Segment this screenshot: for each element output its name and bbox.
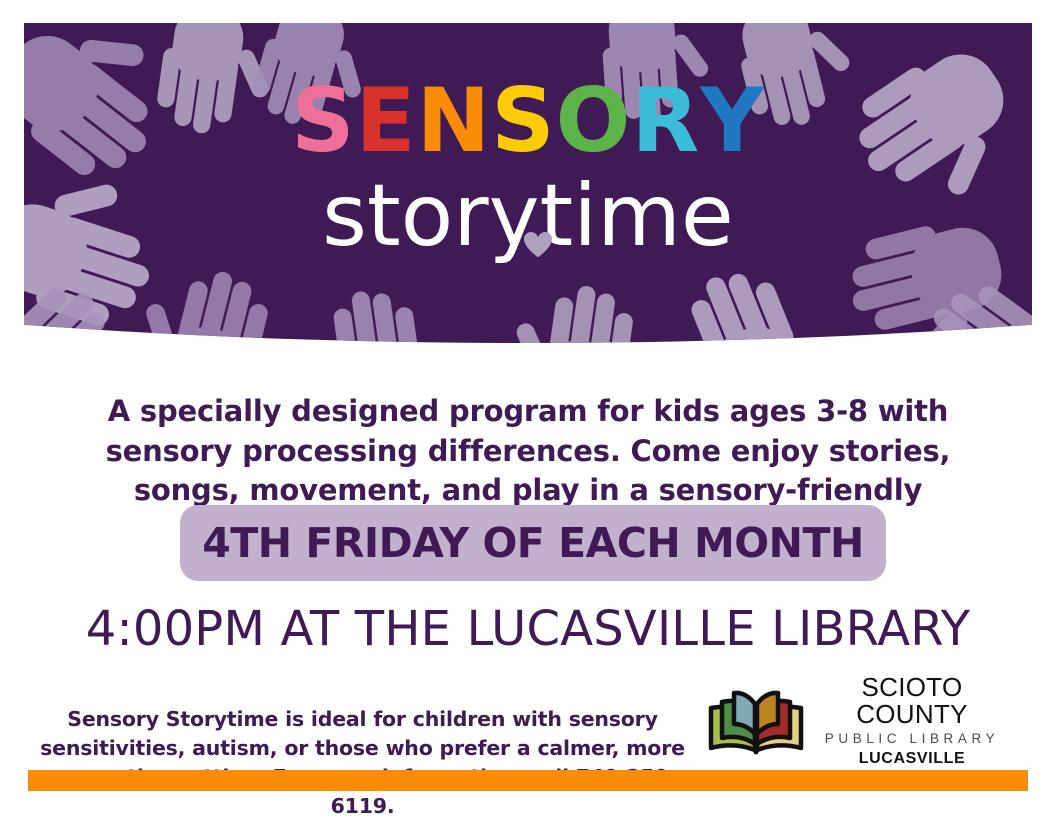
sensory-letter-2: N [417,77,492,165]
logo-line-scioto-county: SCIOTO COUNTY [816,674,1008,729]
hand-icon [501,258,667,343]
sensory-letter-6: Y [700,77,765,165]
sensory-letter-0: S [291,77,355,165]
logo-line-public-library: PUBLIC LIBRARY [816,729,1008,749]
schedule-banner: 4TH FRIDAY OF EACH MONTH [180,505,886,581]
accent-rule [28,770,1028,791]
open-book-icon [708,686,804,756]
footer-note: Sensory Storytime is ideal for children … [40,705,685,821]
logo-line-lucasville: LUCASVILLE [816,749,1008,768]
schedule-banner-label: 4TH FRIDAY OF EACH MONTH [202,519,864,567]
library-logo: SCIOTO COUNTY PUBLIC LIBRARY LUCASVILLE [708,678,1008,764]
poster-title-sensory: SENSORY [24,77,1032,165]
poster-title-storytime: storytime [24,171,1032,261]
hero-banner: SENSORY storytime [24,23,1032,343]
sensory-letter-1: E [355,77,416,165]
heart-icon [524,184,552,210]
sensory-letter-4: O [556,77,632,165]
sensory-letter-3: S [491,77,555,165]
sensory-letter-5: R [631,77,700,165]
hand-icon [291,262,457,343]
time-and-location: 4:00PM AT THE LUCASVILLE LIBRARY [28,601,1028,657]
